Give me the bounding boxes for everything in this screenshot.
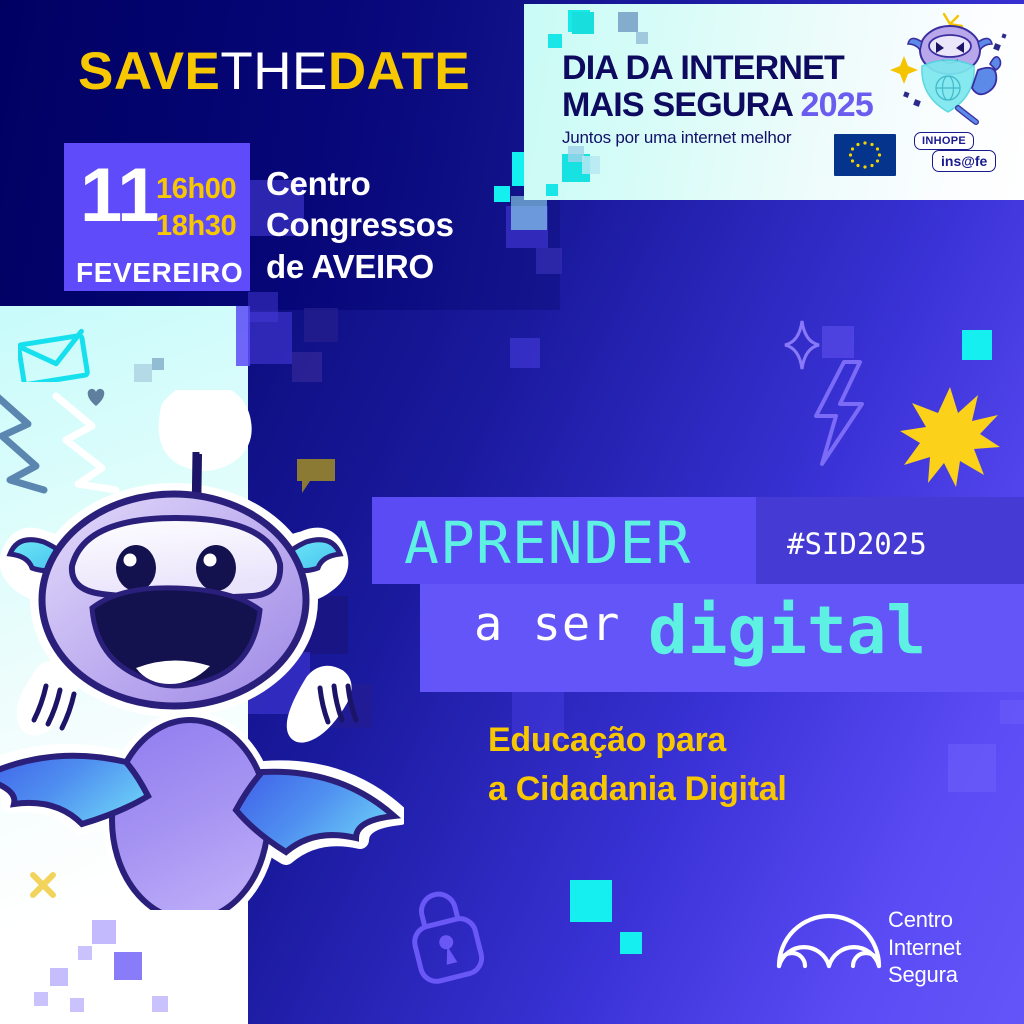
european-union-flag: [834, 134, 896, 176]
decor-square: [152, 996, 168, 1012]
decor-square: [70, 998, 84, 1012]
venue-line-2: Congressos: [266, 204, 454, 245]
decor-square: [618, 12, 638, 32]
decor-square: [546, 184, 558, 196]
banner-title-line-2: MAIS SEGURA: [562, 86, 792, 124]
decor-square: [292, 352, 322, 382]
headline-hashtag: #SID2025: [787, 527, 927, 561]
banner-subtitle: Juntos por uma internet melhor: [562, 128, 791, 148]
padlock-icon: [395, 878, 497, 988]
eu-stars-icon: [834, 134, 896, 176]
decor-square: [636, 32, 648, 44]
decor-square: [1000, 700, 1024, 724]
decor-square: [34, 992, 48, 1006]
save-word: SAVE: [78, 42, 220, 101]
insafe-logo: ins@fe: [932, 150, 996, 172]
decor-square: [494, 186, 510, 202]
event-date-block: 11 16h00 18h30 FEVEREIRO: [64, 143, 250, 291]
decor-square: [536, 248, 562, 274]
decor-square: [134, 364, 152, 382]
decor-square: [304, 308, 338, 342]
banner-mascot-icon: [882, 8, 1014, 126]
event-time-start: 16h00: [156, 171, 236, 208]
umbrella-dome-mark: [775, 898, 883, 970]
subtitle-line-1: Educação para: [488, 716, 786, 765]
event-subtitle: Educação para a Cidadania Digital: [488, 716, 786, 815]
decor-square: [92, 920, 116, 944]
the-word: THE: [220, 42, 328, 101]
decor-square: [962, 330, 992, 360]
subtitle-line-2: a Cidadania Digital: [488, 765, 786, 814]
decor-square: [620, 932, 642, 954]
banner-title-line-1: DIA DA INTERNET: [562, 50, 873, 87]
event-times: 16h00 18h30: [156, 171, 236, 245]
decor-square: [572, 12, 594, 34]
date-word: DATE: [328, 42, 470, 101]
event-time-end: 18h30: [156, 208, 236, 245]
venue-line-1: Centro: [266, 163, 454, 204]
decor-square: [114, 952, 142, 980]
logo-line-3: Segura: [888, 961, 961, 989]
decor-square: [582, 156, 600, 174]
save-the-date-heading: SAVETHEDATE: [78, 45, 470, 98]
logo-wordmark: Centro Internet Segura: [888, 906, 961, 989]
headline-aprender: APRENDER: [404, 509, 691, 577]
banner-title: DIA DA INTERNET MAIS SEGURA 2025: [562, 50, 873, 123]
robot-mascot: [0, 390, 404, 910]
inhope-logo: INHOPE: [914, 132, 974, 150]
decor-square: [570, 880, 612, 922]
logo-line-1: Centro: [888, 906, 961, 934]
envelope-icon: [18, 328, 92, 382]
poster-canvas: SAVETHEDATE 11 16h00 18h30 FEVEREIRO Cen…: [0, 0, 1024, 1024]
headline-a-ser: a ser: [474, 597, 620, 652]
decor-square: [78, 946, 92, 960]
decor-square: [510, 338, 540, 368]
decor-square: [822, 326, 854, 358]
speech-bubble-icon: [294, 455, 338, 497]
logo-line-2: Internet: [888, 934, 961, 962]
event-venue: Centro Congressos de AVEIRO: [266, 163, 454, 287]
decor-square: [948, 744, 996, 792]
venue-line-3: de AVEIRO: [266, 246, 454, 287]
sid-banner: DIA DA INTERNET MAIS SEGURA 2025 Juntos …: [524, 4, 1024, 200]
decor-square: [236, 306, 250, 366]
decor-square: [50, 968, 68, 986]
banner-year: 2025: [801, 86, 873, 124]
decor-square: [511, 196, 547, 230]
lightning-bolt-icon: [804, 358, 874, 470]
event-day: 11: [80, 161, 158, 231]
decor-square: [548, 34, 562, 48]
starburst-icon: [898, 385, 1002, 489]
headline-digital: digital: [648, 592, 926, 669]
decor-square: [152, 358, 164, 370]
event-month: FEVEREIRO: [76, 257, 243, 289]
